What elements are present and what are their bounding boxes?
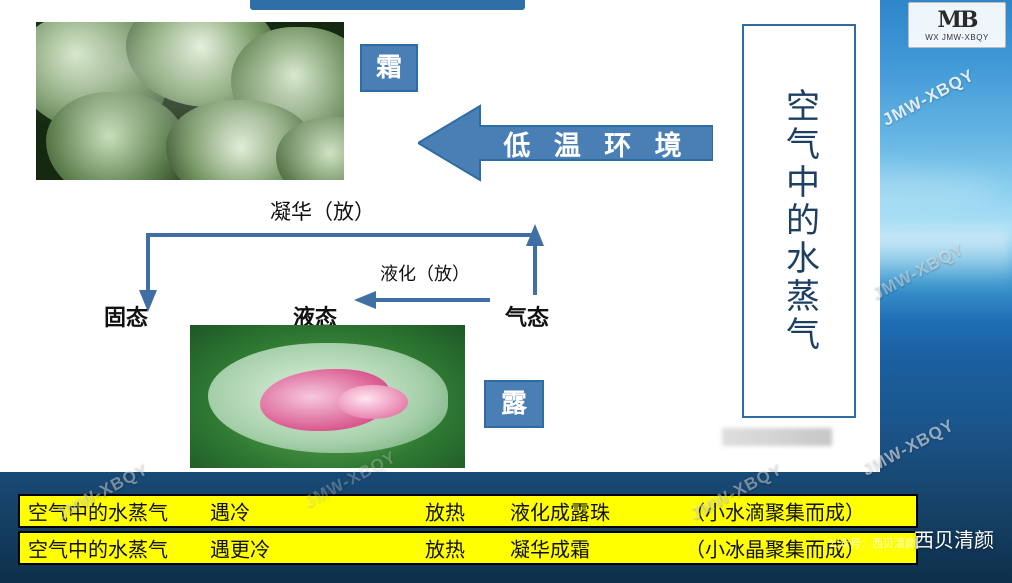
- caption-energy: 放热: [425, 534, 465, 563]
- gas-state-label: 气态: [505, 300, 549, 332]
- caption-condition: 遇更冷: [210, 534, 270, 563]
- top-blue-bar: [250, 0, 525, 10]
- solid-state-label: 固态: [104, 300, 148, 332]
- caption-condition: 遇冷: [210, 497, 250, 526]
- dew-label: 露: [484, 380, 544, 428]
- caption-row: 空气中的水蒸气 遇冷 放热 液化成露珠 （小水滴聚集而成）: [18, 494, 918, 528]
- vertical-title-box: 空气中的水蒸气: [742, 24, 856, 418]
- blurred-watermark: [722, 428, 832, 446]
- logo-mark: MB: [938, 9, 977, 31]
- sublimation-label: 凝华（放）: [270, 196, 375, 226]
- signature-small: 公众号：西贝清颜: [828, 535, 916, 551]
- logo-badge: MB WX JMW-XBQY: [908, 2, 1006, 48]
- arrow-label: 低 温 环 境: [486, 104, 706, 182]
- caption-process: 液化成露珠: [510, 497, 610, 526]
- caption-energy: 放热: [425, 497, 465, 526]
- caption-subject: 空气中的水蒸气: [28, 497, 168, 526]
- low-temperature-arrow: 低 温 环 境: [418, 104, 713, 182]
- state-change-diagram: 凝华（放） 液化（放） 固态 液态 气态: [90, 190, 590, 340]
- caption-note: （小水滴聚集而成）: [685, 497, 865, 526]
- caption-row: 空气中的水蒸气 遇更冷 放热 凝华成霜 （小冰晶聚集而成）: [18, 531, 918, 565]
- caption-process: 凝华成霜: [510, 534, 590, 563]
- signature: 西贝清颜: [914, 524, 994, 553]
- caption-block: 空气中的水蒸气 遇冷 放热 液化成露珠 （小水滴聚集而成） 空气中的水蒸气 遇更…: [18, 494, 918, 568]
- frost-photo: [36, 22, 344, 180]
- frost-label: 霜: [360, 44, 418, 92]
- logo-subtitle: WX JMW-XBQY: [925, 33, 989, 42]
- slide-canvas: 霜 低 温 环 境 凝华（放） 液化（放） 固态 液态 气态: [0, 0, 880, 472]
- dew-photo: [190, 325, 465, 468]
- condensation-label: 液化（放）: [380, 260, 470, 286]
- caption-subject: 空气中的水蒸气: [28, 534, 168, 563]
- vertical-title-text: 空气中的水蒸气: [776, 88, 823, 354]
